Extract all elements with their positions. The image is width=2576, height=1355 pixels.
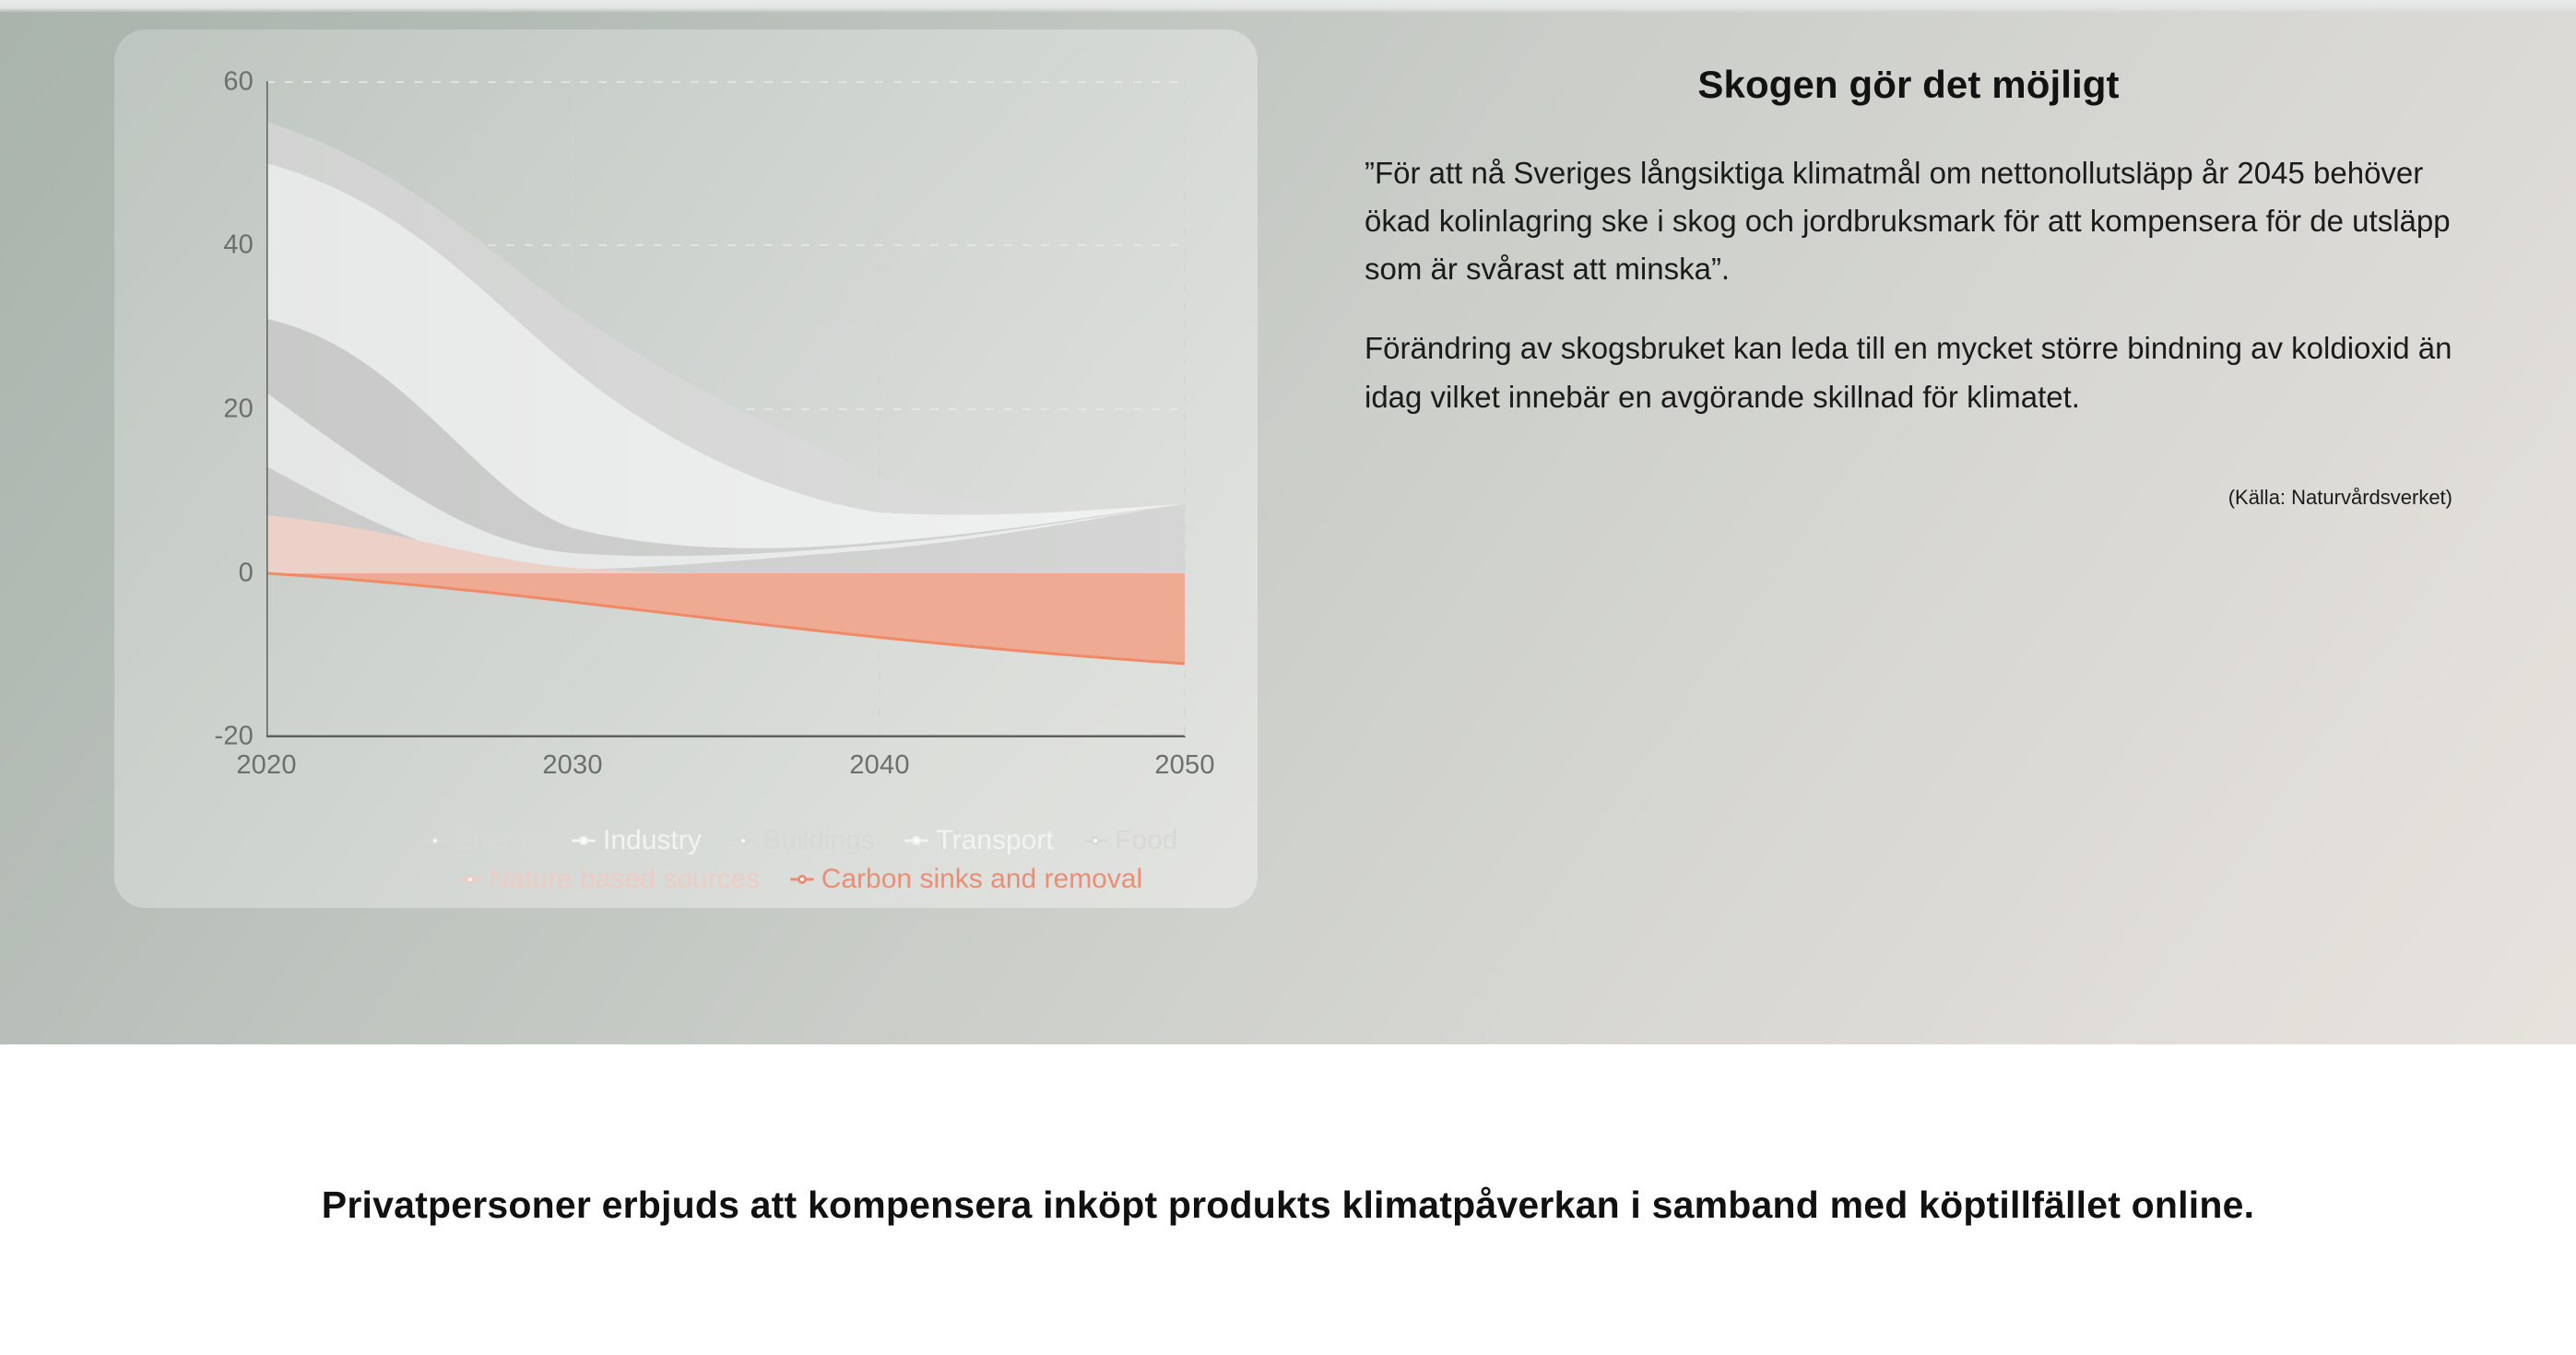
y-tick-40: 40 <box>223 230 254 261</box>
bottom-section: Privatpersoner erbjuds att kompensera in… <box>0 1044 2576 1355</box>
panel-source: (Källa: Naturvårdsverket) <box>1365 486 2452 510</box>
line-circle-marker-icon <box>458 873 482 886</box>
legend-label: Transport <box>936 827 1053 854</box>
legend-label: Energy <box>455 827 542 854</box>
legend-item-energy[interactable]: Energy <box>423 827 542 854</box>
line-circle-marker-icon <box>731 834 755 847</box>
line-circle-marker-icon <box>423 834 447 847</box>
line-circle-marker-icon <box>572 834 596 847</box>
legend-row-2: Nature based sources Carbon sinks and re… <box>229 866 1372 893</box>
line-circle-marker-icon <box>1083 834 1107 847</box>
x-tick-2030: 2030 <box>542 750 602 781</box>
chart-legend: Energy Industry Buildings Transport Food <box>229 827 1372 904</box>
y-tick-20: 20 <box>223 395 254 425</box>
legend-label: Industry <box>603 827 702 854</box>
y-tick-neg20: -20 <box>214 722 254 752</box>
x-tick-2020: 2020 <box>236 750 296 781</box>
legend-item-buildings[interactable]: Buildings <box>731 827 875 854</box>
y-tick-60: 60 <box>223 67 254 98</box>
legend-label: Buildings <box>762 827 875 854</box>
legend-label: Nature based sources <box>490 866 761 893</box>
x-tick-2040: 2040 <box>849 750 909 781</box>
legend-item-transport[interactable]: Transport <box>904 827 1053 854</box>
line-circle-marker-icon <box>790 873 814 886</box>
text-panel: Skogen gör det möjligt ”För att nå Sveri… <box>1365 63 2452 510</box>
panel-paragraph-2: Förändring av skogsbruket kan leda till … <box>1365 324 2452 420</box>
legend-item-food[interactable]: Food <box>1083 827 1177 854</box>
hero-section: 60 40 20 0 -20 2020 2030 2040 2050 Energ… <box>0 0 2576 1044</box>
bottom-headline: Privatpersoner erbjuds att kompensera in… <box>223 1177 2353 1234</box>
legend-label: Food <box>1115 827 1177 854</box>
x-tick-2050: 2050 <box>1154 750 1214 781</box>
legend-label: Carbon sinks and removal <box>821 866 1143 893</box>
chart-svg <box>266 81 1186 737</box>
y-tick-0: 0 <box>239 559 254 589</box>
panel-title: Skogen gör det möjligt <box>1365 63 2452 107</box>
legend-item-carbon-sinks-and-removal[interactable]: Carbon sinks and removal <box>790 866 1143 893</box>
legend-item-industry[interactable]: Industry <box>572 827 702 854</box>
chart-card: 60 40 20 0 -20 2020 2030 2040 2050 Energ… <box>114 29 1258 908</box>
line-circle-marker-icon <box>904 834 928 847</box>
panel-paragraph-1: ”För att nå Sveriges långsiktiga klimatm… <box>1365 149 2452 293</box>
stacked-area-chart: 60 40 20 0 -20 2020 2030 2040 2050 <box>266 81 1186 737</box>
legend-item-nature-based-sources[interactable]: Nature based sources <box>458 866 761 893</box>
area-carbon-sinks-and-removal <box>266 573 1185 664</box>
legend-row-1: Energy Industry Buildings Transport Food <box>229 827 1372 854</box>
